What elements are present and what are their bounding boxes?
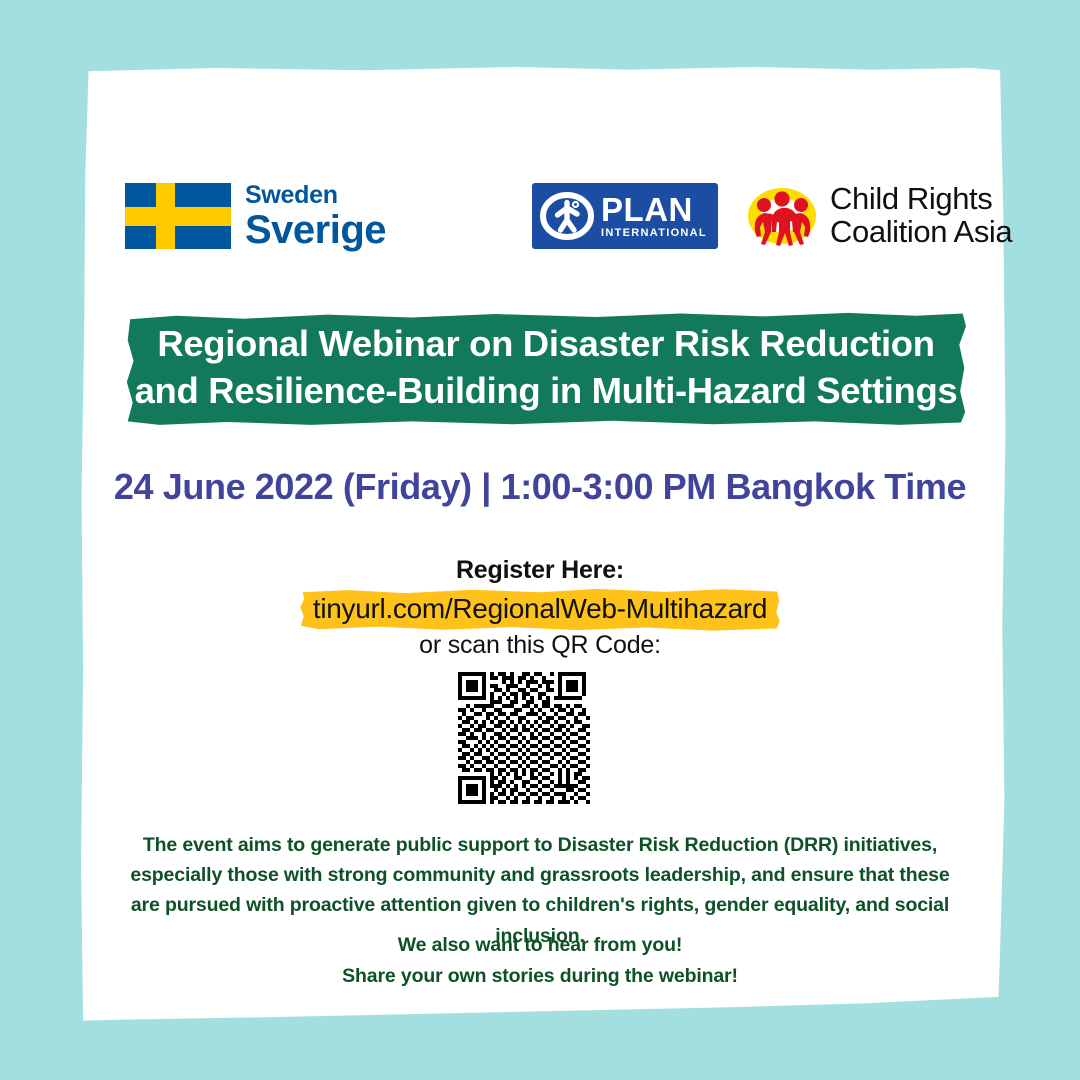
crca-line-2: Coalition Asia	[830, 216, 1012, 249]
registration-url[interactable]: tinyurl.com/RegionalWeb-Multihazard	[313, 593, 767, 624]
qr-code[interactable]	[458, 672, 590, 804]
crca-wordmark: Child Rights Coalition Asia	[830, 183, 1012, 249]
register-here-label: Register Here:	[0, 556, 1080, 585]
child-rights-coalition-asia-logo: Child Rights Coalition Asia	[744, 181, 1012, 251]
banner-line-1: Regional Webinar on Disaster Risk Reduct…	[157, 321, 934, 368]
sweden-flag-icon	[125, 183, 231, 249]
plan-wordmark: PLAN INTERNATIONAL	[601, 193, 707, 239]
sweden-label-en: Sweden	[245, 183, 386, 208]
webinar-poster: Sweden Sverige PLAN INTERNATIONAL	[0, 0, 1080, 1080]
url-highlight-marker: tinyurl.com/RegionalWeb-Multihazard	[300, 588, 780, 631]
plan-subtitle: INTERNATIONAL	[601, 228, 707, 239]
invitation-line-2: Share your own stories during the webina…	[120, 961, 960, 992]
logo-row: Sweden Sverige PLAN INTERNATIONAL	[125, 168, 970, 264]
invitation-text: We also want to hear from you! Share you…	[120, 930, 960, 992]
registration-url-row: tinyurl.com/RegionalWeb-Multihazard	[0, 588, 1080, 631]
three-children-icon	[744, 181, 820, 251]
sweden-wordmark: Sweden Sverige	[245, 183, 386, 250]
sweden-sverige-logo: Sweden Sverige	[125, 183, 386, 250]
invitation-line-1: We also want to hear from you!	[120, 930, 960, 961]
plan-child-icon	[540, 189, 594, 243]
crca-line-1: Child Rights	[830, 183, 1012, 216]
event-datetime: 24 June 2022 (Friday) | 1:00-3:00 PM Ban…	[0, 466, 1080, 508]
plan-international-logo: PLAN INTERNATIONAL	[532, 183, 718, 249]
plan-name: PLAN	[601, 193, 707, 226]
title-banner: Regional Webinar on Disaster Risk Reduct…	[126, 310, 966, 426]
banner-line-2: and Resilience-Building in Multi-Hazard …	[135, 368, 958, 415]
banner-text: Regional Webinar on Disaster Risk Reduct…	[126, 310, 966, 426]
scan-qr-label: or scan this QR Code:	[0, 631, 1080, 660]
sweden-label-sv: Sverige	[245, 210, 386, 250]
